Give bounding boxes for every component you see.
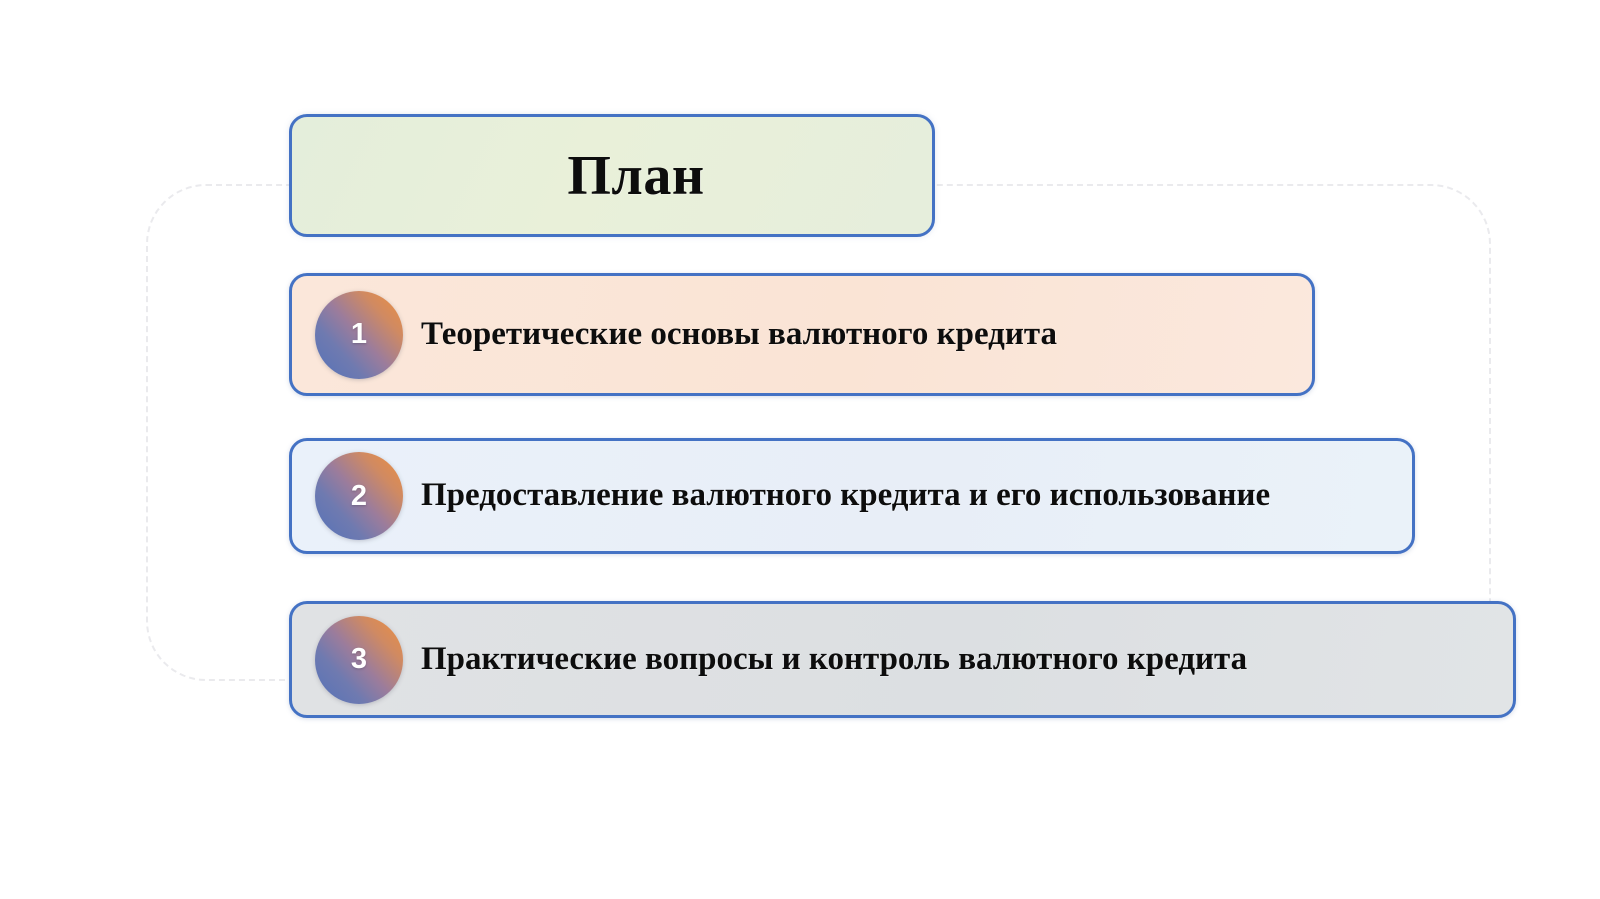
number-badge-1: 1 [315, 291, 403, 379]
badge-number-label: 3 [351, 645, 367, 674]
plan-item-3-label: Практические вопросы и контроль валютног… [421, 638, 1265, 682]
badge-number-label: 2 [351, 482, 367, 511]
number-badge-3: 3 [315, 616, 403, 704]
slide-canvas: План 1 Теоретические основы валютного кр… [0, 0, 1600, 899]
plan-item-1[interactable]: 1 Теоретические основы валютного кредита [289, 273, 1315, 396]
plan-item-2-label: Предоставление валютного кредита и его и… [421, 474, 1288, 518]
plan-title-card: План [289, 114, 935, 237]
plan-item-3[interactable]: 3 Практические вопросы и контроль валютн… [289, 601, 1516, 718]
badge-number-label: 1 [351, 320, 367, 349]
number-badge-2: 2 [315, 452, 403, 540]
page-title: План [519, 148, 704, 204]
plan-item-2[interactable]: 2 Предоставление валютного кредита и его… [289, 438, 1415, 554]
plan-item-1-label: Теоретические основы валютного кредита [421, 313, 1075, 357]
